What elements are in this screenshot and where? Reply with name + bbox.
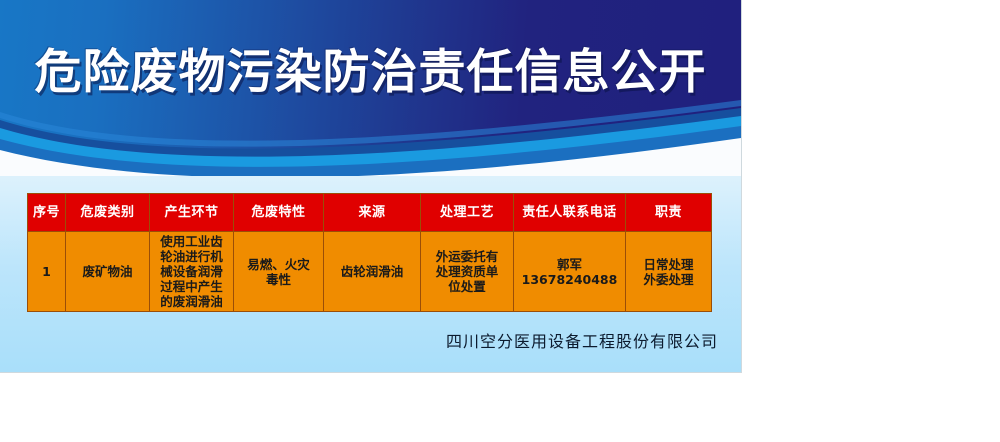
information-disclosure-poster: 危险废物污染防治责任信息公开 序号 危废类别 产生环节 危废特性 来源 处理工艺… <box>0 0 741 372</box>
cell-seq: 1 <box>28 232 66 312</box>
page-title: 危险废物污染防治责任信息公开 <box>0 45 741 101</box>
cell-line: 日常处理 <box>628 257 709 272</box>
table-header-row: 序号 危废类别 产生环节 危废特性 来源 处理工艺 责任人联系电话 职责 <box>28 194 712 232</box>
column-header-source: 来源 <box>324 194 421 232</box>
column-header-category: 危废类别 <box>66 194 150 232</box>
column-header-stage: 产生环节 <box>150 194 234 232</box>
cell-duty: 日常处理 外委处理 <box>626 232 712 312</box>
cell-source: 齿轮润滑油 <box>324 232 421 312</box>
cell-line: 轮油进行机 <box>152 249 231 264</box>
column-header-contact: 责任人联系电话 <box>514 194 626 232</box>
cell-process: 外运委托有 处理资质单 位处置 <box>421 232 514 312</box>
cell-line: 的废润滑油 <box>152 294 231 309</box>
cell-line: 外委处理 <box>628 272 709 287</box>
cell-line: 位处置 <box>423 279 511 294</box>
column-header-duty: 职责 <box>626 194 712 232</box>
contact-phone-number: 13678240488 <box>516 272 623 287</box>
company-name: 四川空分医用设备工程股份有限公司 <box>0 328 718 352</box>
cell-line: 过程中产生 <box>152 279 231 294</box>
cell-line: 处理资质单 <box>423 264 511 279</box>
poster-banner: 危险废物污染防治责任信息公开 <box>0 0 741 176</box>
hazardous-waste-table: 序号 危废类别 产生环节 危废特性 来源 处理工艺 责任人联系电话 职责 1 废… <box>27 193 712 312</box>
cell-property: 易燃、火灾 毒性 <box>234 232 324 312</box>
cell-stage: 使用工业齿 轮油进行机 械设备润滑 过程中产生 的废润滑油 <box>150 232 234 312</box>
table-row: 1 废矿物油 使用工业齿 轮油进行机 械设备润滑 过程中产生 的废润滑油 易燃、… <box>28 232 712 312</box>
contact-person-name: 郭军 <box>516 257 623 272</box>
cell-line: 械设备润滑 <box>152 264 231 279</box>
cell-category: 废矿物油 <box>66 232 150 312</box>
cell-line: 外运委托有 <box>423 249 511 264</box>
cell-line: 易燃、火灾 <box>236 257 321 272</box>
column-header-property: 危废特性 <box>234 194 324 232</box>
cell-line: 使用工业齿 <box>152 234 231 249</box>
cell-line: 毒性 <box>236 272 321 287</box>
column-header-seq: 序号 <box>28 194 66 232</box>
cell-contact: 郭军 13678240488 <box>514 232 626 312</box>
column-header-process: 处理工艺 <box>421 194 514 232</box>
